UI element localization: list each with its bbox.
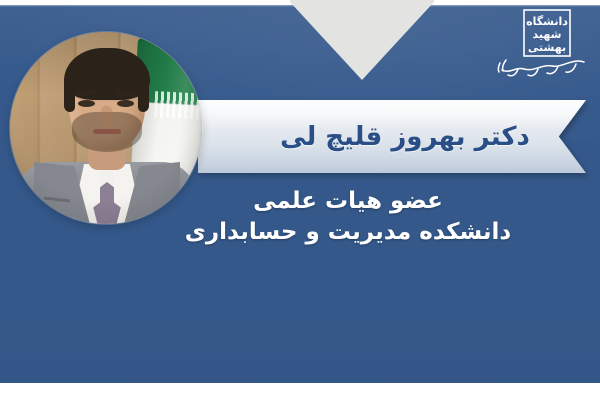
- person-figure: [10, 32, 202, 224]
- portrait-scene: [10, 32, 202, 224]
- shahid-beheshti-logo-icon: دانشگاه شهید بهشتی: [488, 6, 592, 86]
- university-logo: دانشگاه شهید بهشتی: [488, 6, 592, 86]
- svg-text:بهشتی: بهشتی: [528, 41, 566, 54]
- nose: [100, 106, 113, 128]
- svg-text:شهید: شهید: [533, 28, 562, 41]
- eye-right: [117, 100, 134, 107]
- svg-text:دانشگاه: دانشگاه: [526, 15, 568, 28]
- name-ribbon: دکتر بهروز قلیچ لی: [198, 100, 586, 173]
- sideburn-right: [138, 76, 149, 112]
- avatar: [10, 32, 202, 224]
- profile-card: دکتر بهروز قلیچ لی عضو هیات علمی دانشکده…: [0, 0, 600, 400]
- sideburn-left: [64, 76, 75, 112]
- person-name: دکتر بهروز قلیچ لی: [198, 100, 586, 173]
- eye-left: [78, 100, 95, 107]
- mouth: [93, 129, 121, 134]
